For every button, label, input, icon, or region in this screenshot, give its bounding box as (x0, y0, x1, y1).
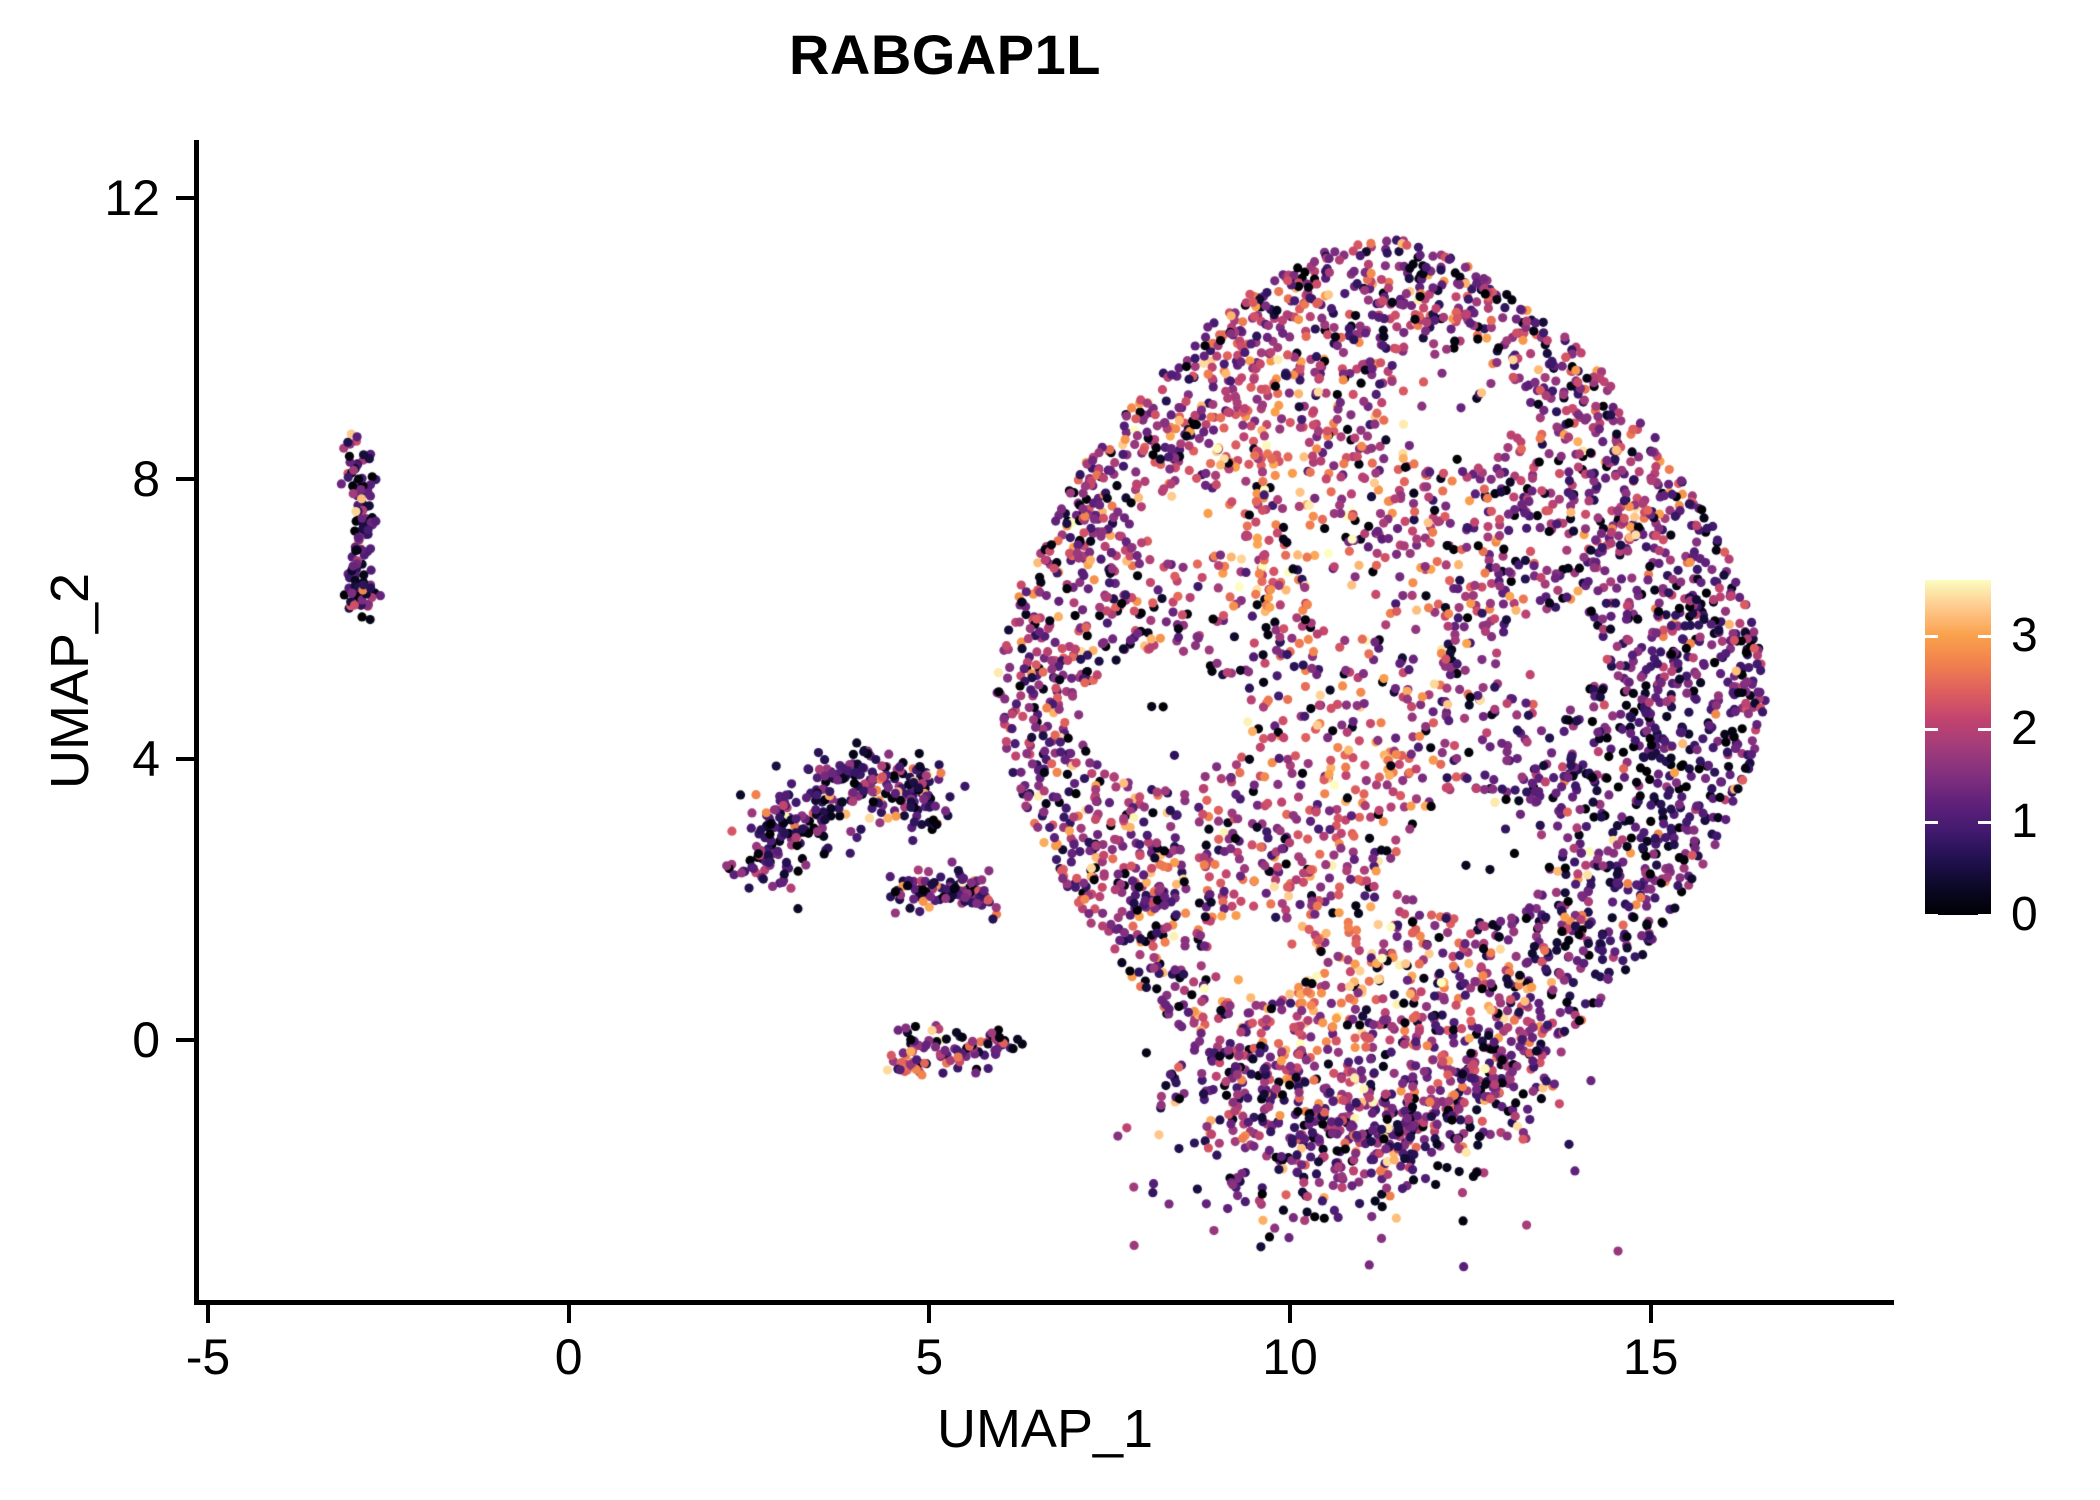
colorbar-tick-mark (1978, 914, 1991, 917)
x-tick-mark (206, 1305, 210, 1323)
colorbar-tick-mark (1925, 635, 1938, 638)
colorbar-tick-mark (1978, 635, 1991, 638)
y-tick-mark (176, 196, 194, 200)
x-tick-label: 10 (1210, 1328, 1370, 1386)
y-tick-mark (176, 477, 194, 481)
scatter-plot-canvas (198, 140, 1892, 1302)
colorbar-tick-label: 0 (2011, 891, 2038, 939)
x-tick-mark (1649, 1305, 1653, 1323)
x-tick-label: 15 (1571, 1328, 1731, 1386)
colorbar-tick-mark (1925, 821, 1938, 824)
colorbar-tick-label: 1 (2011, 798, 2038, 846)
x-tick-label: -5 (128, 1328, 288, 1386)
colorbar-gradient (1925, 580, 1991, 915)
x-axis-label: UMAP_1 (198, 1398, 1892, 1460)
y-tick-label: 12 (0, 173, 160, 223)
colorbar-tick-label: 3 (2011, 612, 2038, 660)
y-tick-mark (176, 1038, 194, 1042)
colorbar-legend: 0123 (1925, 580, 2095, 920)
y-axis-line (194, 140, 199, 1305)
y-tick-mark (176, 757, 194, 761)
x-tick-mark (567, 1305, 571, 1323)
colorbar-tick-label: 2 (2011, 705, 2038, 753)
colorbar-tick-mark (1978, 821, 1991, 824)
x-tick-mark (1288, 1305, 1292, 1323)
umap-feature-plot: RABGAP1L -5051015 04812 UMAP_1 UMAP_2 01… (0, 0, 2100, 1500)
x-tick-label: 0 (489, 1328, 649, 1386)
colorbar-tick-mark (1978, 728, 1991, 731)
plot-panel (198, 140, 1892, 1302)
colorbar-tick-mark (1925, 728, 1938, 731)
x-axis-line (194, 1300, 1894, 1305)
page-title: RABGAP1L (0, 22, 1890, 87)
colorbar-tick-mark (1925, 914, 1938, 917)
x-tick-label: 5 (849, 1328, 1009, 1386)
y-axis-label: UMAP_2 (39, 281, 101, 1081)
x-tick-mark (927, 1305, 931, 1323)
